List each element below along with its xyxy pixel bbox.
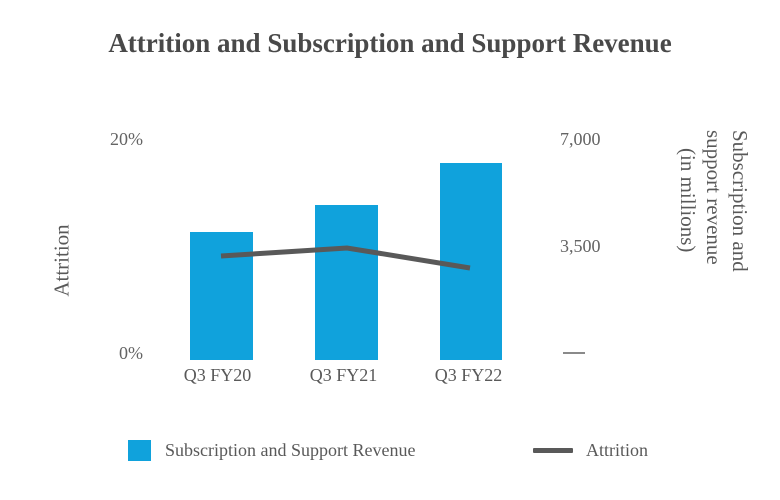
legend-label-revenue: Subscription and Support Revenue bbox=[165, 439, 415, 461]
legend-line-icon bbox=[533, 448, 573, 453]
right-axis-tick-3500: 3,500 bbox=[560, 236, 630, 256]
right-axis-tick-zero-dash bbox=[563, 352, 585, 354]
attrition-line-series bbox=[155, 130, 545, 360]
x-tick-label-1: Q3 FY21 bbox=[286, 364, 401, 386]
right-axis-title-line-2: support revenue bbox=[701, 130, 726, 265]
left-axis-tick-20: 20% bbox=[83, 129, 143, 149]
chart-legend: Subscription and Support Revenue Attriti… bbox=[0, 436, 780, 466]
x-tick-label-0: Q3 FY20 bbox=[160, 364, 275, 386]
plot-area bbox=[155, 130, 545, 360]
right-axis-tick-7000: 7,000 bbox=[560, 129, 630, 149]
legend-label-attrition: Attrition bbox=[586, 439, 648, 461]
chart-title: Attrition and Subscription and Support R… bbox=[90, 26, 690, 61]
legend-square-icon bbox=[128, 440, 151, 461]
left-axis-tick-0: 0% bbox=[83, 343, 143, 363]
left-axis-title: Attrition bbox=[50, 166, 75, 356]
attrition-polyline[interactable] bbox=[221, 248, 470, 268]
right-axis-title-line-3: (in millions) bbox=[675, 148, 700, 252]
x-tick-label-2: Q3 FY22 bbox=[411, 364, 526, 386]
legend-item-revenue[interactable]: Subscription and Support Revenue bbox=[128, 436, 415, 464]
chart-container: Attrition and Subscription and Support R… bbox=[0, 0, 780, 500]
right-axis-title-line-1: Subscription and bbox=[727, 130, 752, 272]
legend-item-attrition[interactable]: Attrition bbox=[533, 436, 648, 464]
